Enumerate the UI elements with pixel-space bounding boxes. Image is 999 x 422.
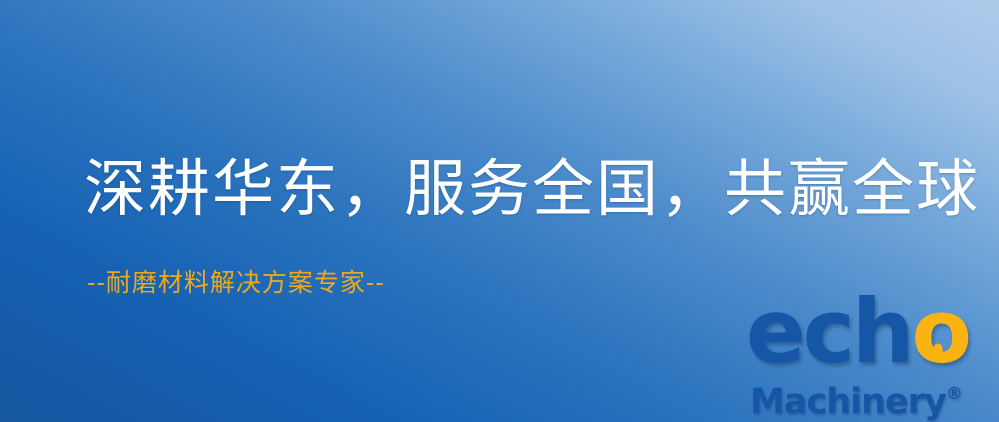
logo-subtext-label: Machinery [750, 382, 946, 422]
registered-trademark-icon: ® [946, 384, 963, 404]
banner-headline: 深耕华东，服务全国，共赢全球 [84, 152, 980, 226]
echo-machinery-logo[interactable]: echo Machinery® [742, 292, 999, 420]
promo-banner: 深耕华东，服务全国，共赢全球 --耐磨材料解决方案专家-- echo Machi… [0, 0, 999, 422]
logo-mark: echo Machinery® [742, 292, 999, 420]
logo-subtext: Machinery® [750, 376, 963, 420]
wifi-signal-arcs-icon [928, 292, 998, 354]
logo-wordmark-prefix: ech [746, 280, 912, 383]
banner-subtitle: --耐磨材料解决方案专家-- [87, 268, 385, 298]
